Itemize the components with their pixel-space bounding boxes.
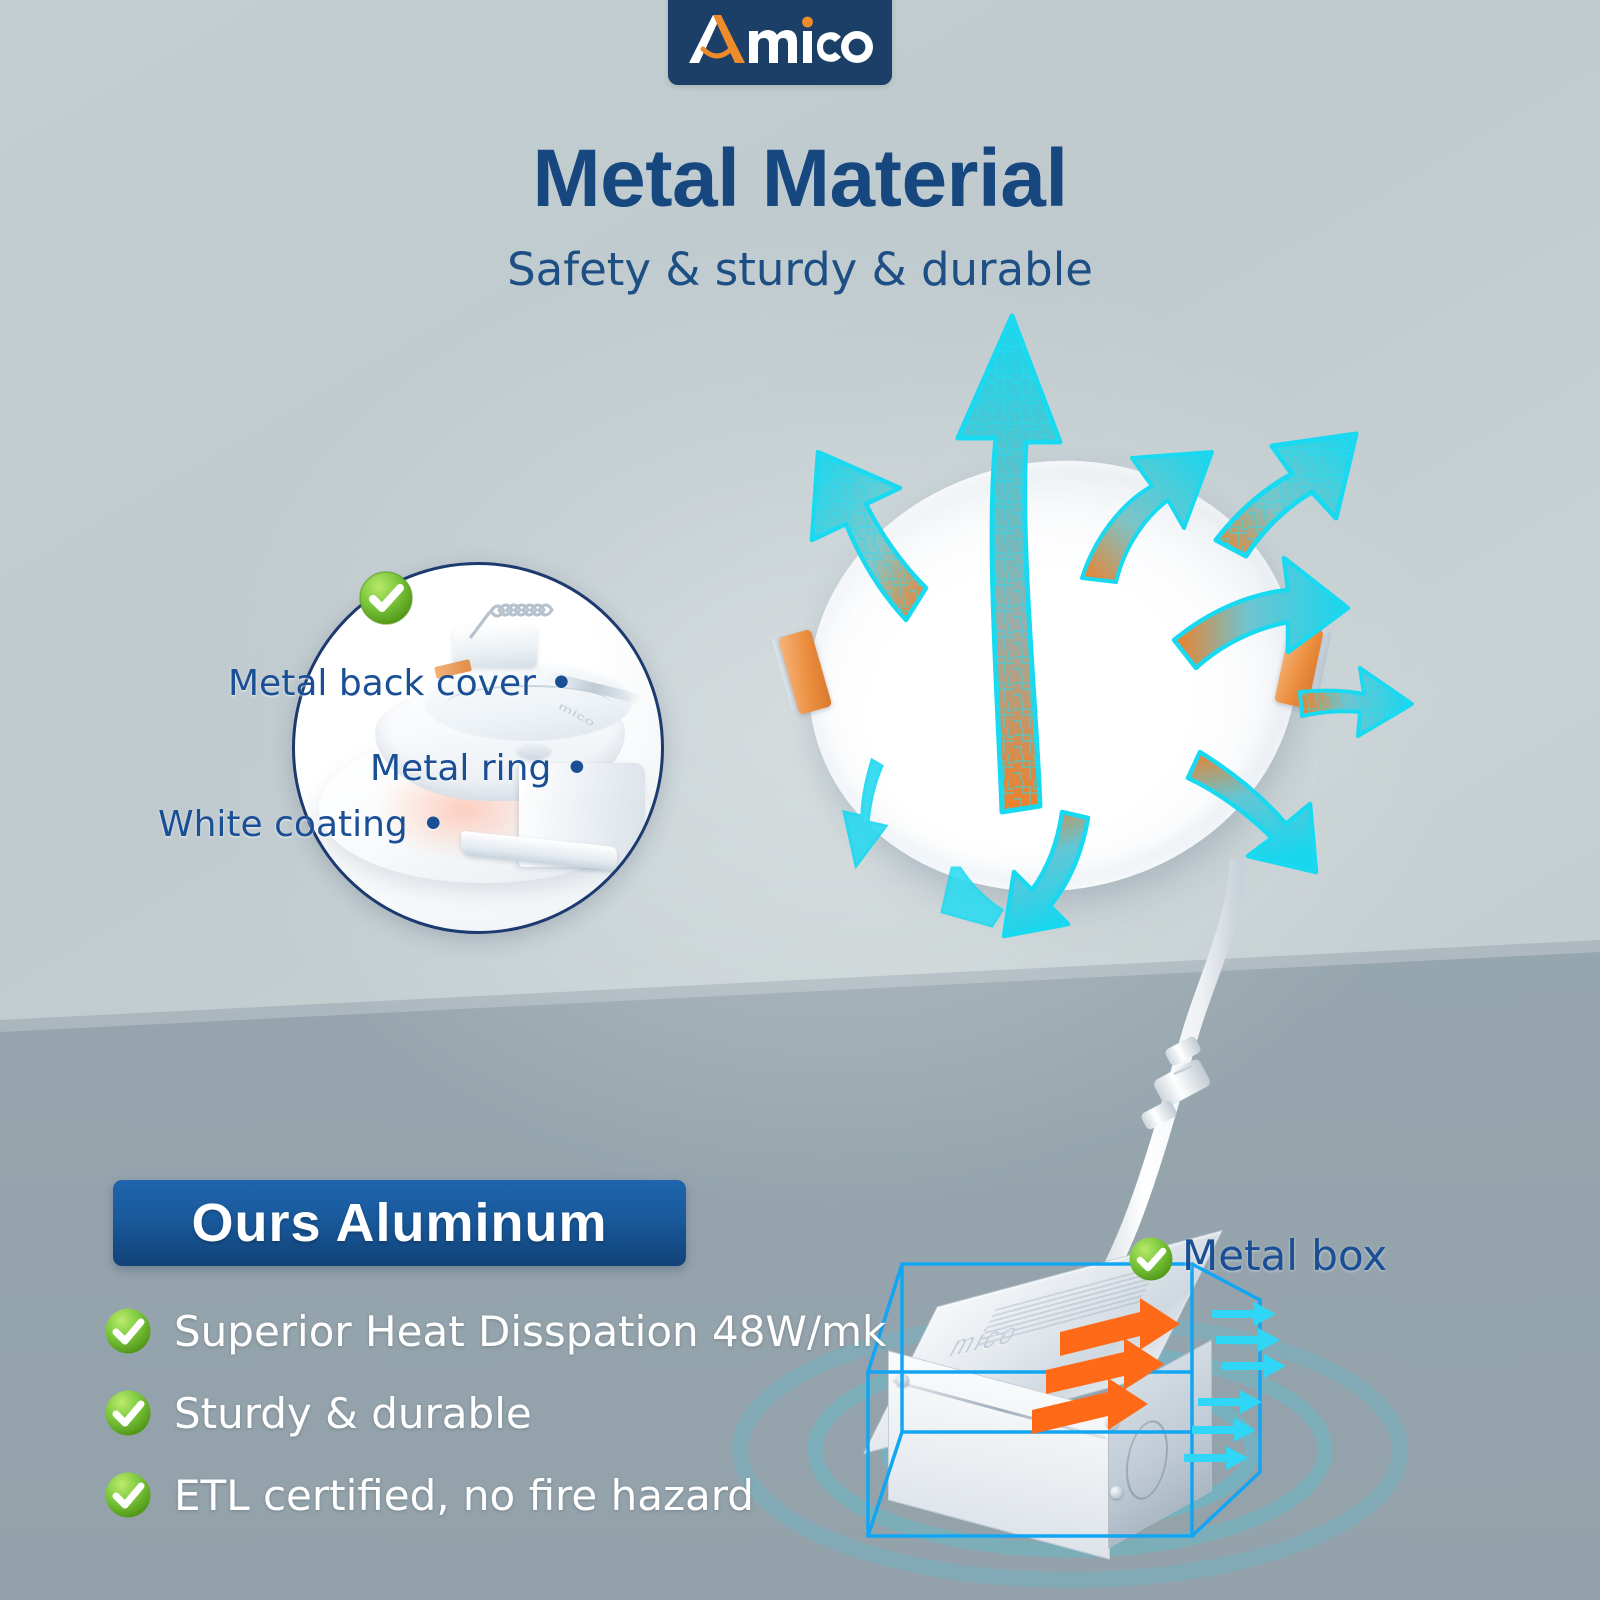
ours-aluminum-badge: Ours Aluminum: [113, 1180, 686, 1266]
brand-logo: [668, 0, 892, 85]
led-downlight-product: [760, 380, 1380, 1000]
label-bullet: •: [422, 804, 445, 845]
metal-junction-box: mico: [840, 1240, 1310, 1580]
feature-label: Sturdy & durable: [174, 1389, 532, 1438]
junction-box-wireframe-outline: [840, 1240, 1310, 1580]
green-check-icon: [104, 1471, 152, 1519]
torsion-spring-icon: [463, 597, 559, 643]
green-check-icon: [104, 1389, 152, 1437]
page-subtitle: Safety & sturdy & durable: [0, 243, 1600, 296]
label-text: Metal back cover: [228, 663, 536, 704]
feature-item: Superior Heat Disspation 48W/mk: [104, 1290, 904, 1372]
ours-aluminum-label: Ours Aluminum: [191, 1192, 607, 1254]
amico-wordmark-icon: [687, 11, 873, 69]
metal-box-label: Metal box: [1182, 1231, 1387, 1280]
magnifier-label-metal-ring: Metal ring•: [370, 748, 588, 789]
feature-item: Sturdy & durable: [104, 1372, 904, 1454]
label-bullet: •: [550, 663, 573, 704]
feature-item: ETL certified, no fire hazard: [104, 1454, 904, 1536]
magnifier-label-metal-back-cover: Metal back cover•: [228, 663, 573, 704]
page-title: Metal Material: [0, 132, 1600, 226]
heat-out-arrows-cyan: [1184, 1302, 1286, 1470]
heat-in-arrows-orange: [1032, 1298, 1180, 1434]
label-text: Metal ring: [370, 748, 551, 789]
label-text: White coating: [158, 804, 408, 845]
green-check-icon: [358, 570, 414, 626]
feature-label: ETL certified, no fire hazard: [174, 1471, 754, 1520]
marketing-image-canvas: Metal Material Safety & sturdy & durable…: [0, 0, 1600, 1600]
label-bullet: •: [565, 748, 588, 789]
green-check-icon: [1128, 1236, 1174, 1282]
green-check-icon: [104, 1307, 152, 1355]
feature-list: Superior Heat Disspation 48W/mk Sturdy &…: [104, 1290, 904, 1536]
feature-label: Superior Heat Disspation 48W/mk: [174, 1307, 886, 1356]
magnifier-label-white-coating: White coating•: [158, 804, 445, 845]
